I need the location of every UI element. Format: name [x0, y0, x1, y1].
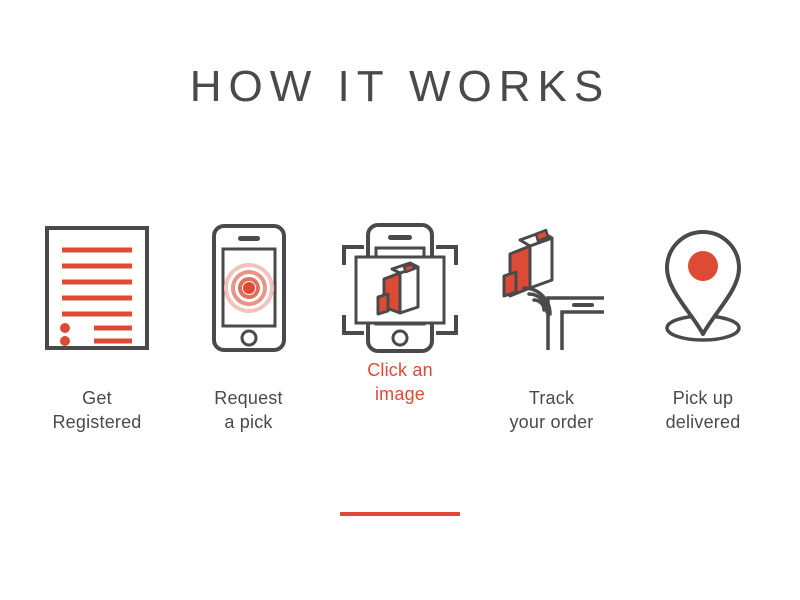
step-label: Track your order — [509, 386, 593, 435]
step-label-line2: delivered — [666, 412, 741, 432]
step-track-your-order[interactable]: Track your order — [477, 218, 627, 435]
steps-list: Get Registered Request a pick — [0, 218, 800, 538]
document-icon[interactable] — [22, 218, 172, 358]
step-label: Pick up delivered — [666, 386, 741, 435]
package-signal-road-icon[interactable] — [477, 218, 627, 358]
step-label-line2: your order — [509, 412, 593, 432]
phone-camera-package-icon[interactable] — [325, 218, 475, 358]
step-label-line1: Get — [82, 388, 112, 408]
step-click-an-image[interactable]: Click an image — [325, 218, 475, 407]
step-label-line1: Pick up — [673, 388, 733, 408]
step-request-a-pick[interactable]: Request a pick — [174, 218, 324, 435]
step-pick-up-delivered[interactable]: Pick up delivered — [628, 218, 778, 435]
step-label-line1: Click an — [367, 360, 433, 380]
page-title: HOW IT WORKS — [0, 62, 800, 112]
step-label-line2: Registered — [52, 412, 141, 432]
step-get-registered[interactable]: Get Registered — [22, 218, 172, 435]
active-step-underline — [340, 512, 460, 516]
phone-radar-icon[interactable] — [174, 218, 324, 358]
step-label: Get Registered — [52, 386, 141, 435]
step-label-line2: a pick — [224, 412, 272, 432]
step-label-line2: image — [375, 384, 425, 404]
step-label: Click an image — [367, 358, 433, 407]
step-label: Request a pick — [214, 386, 282, 435]
step-label-line1: Request — [214, 388, 282, 408]
map-pin-icon[interactable] — [628, 218, 778, 358]
step-label-line1: Track — [529, 388, 574, 408]
